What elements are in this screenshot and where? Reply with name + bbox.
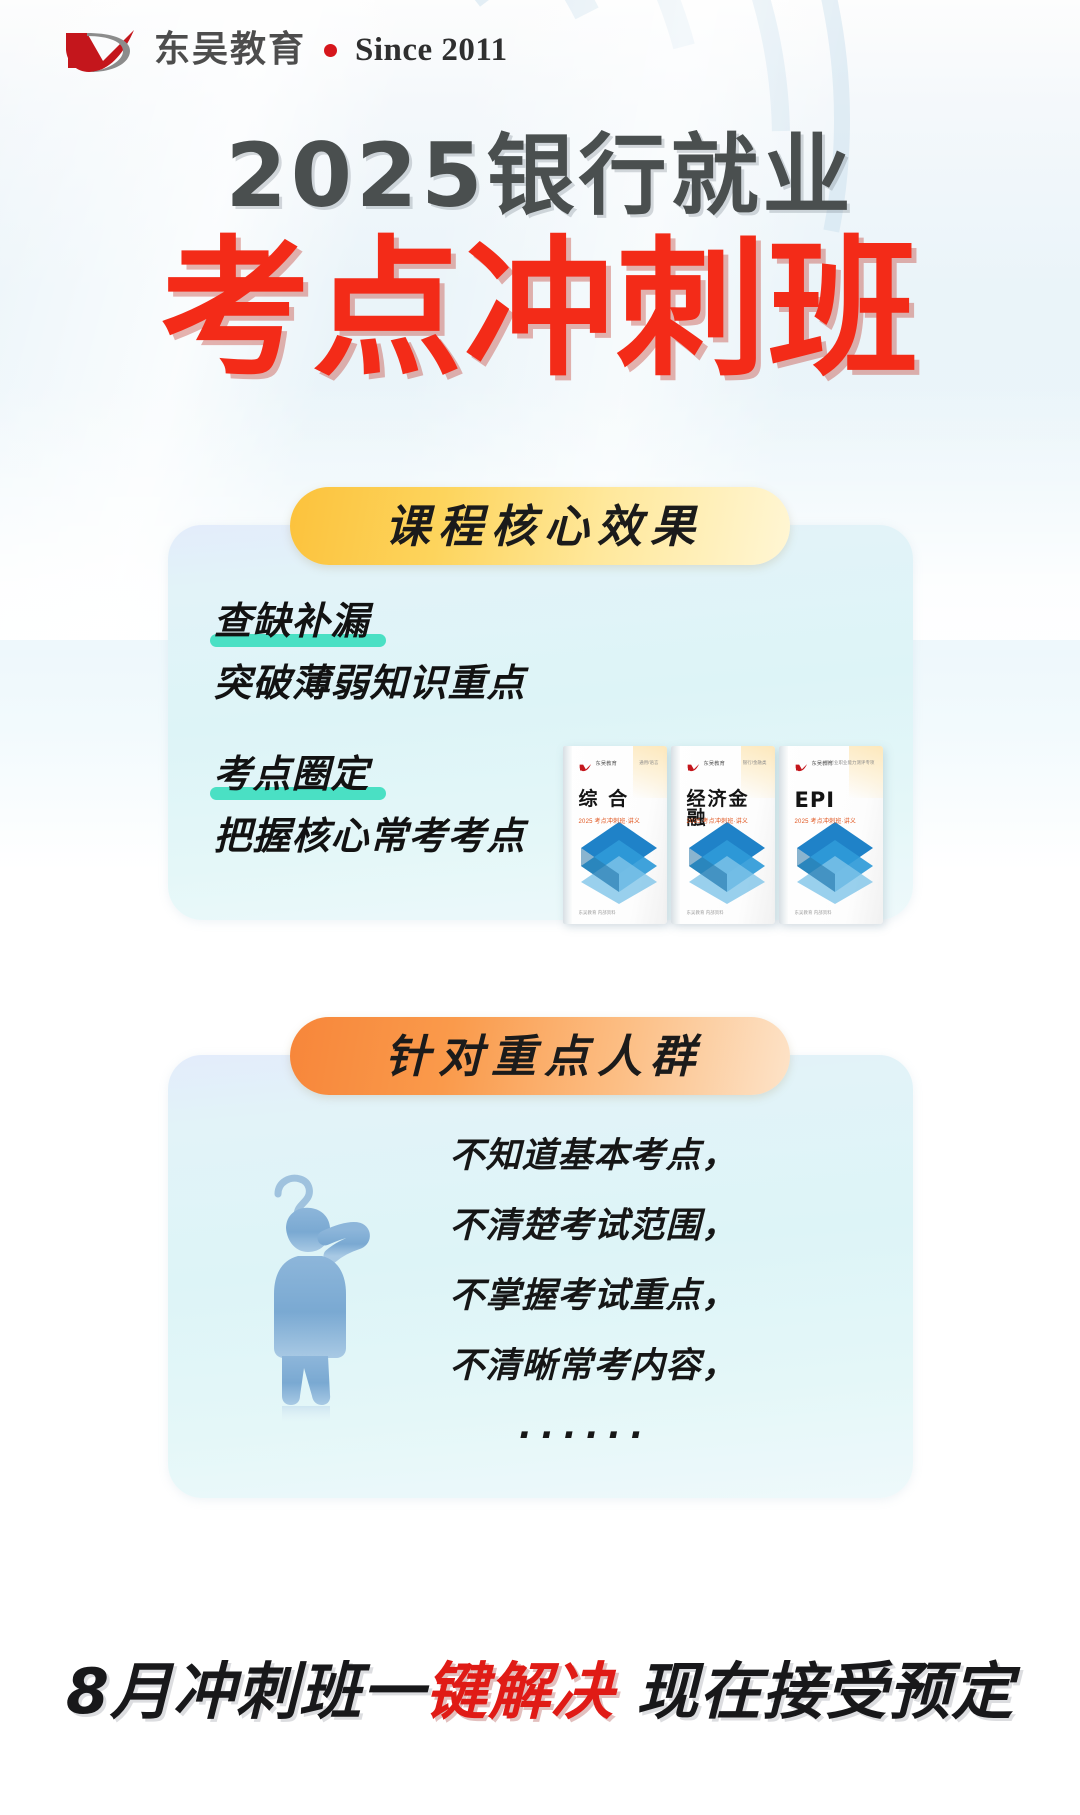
textbook-footer: 东吴教育 内部资料	[687, 910, 769, 916]
audience-pain-point-list: 不知道基本考点， 不清楚考试范围， 不掌握考试重点， 不清晰常考内容， ····…	[442, 1139, 865, 1454]
effect-group: 查缺补漏 突破薄弱知识重点	[214, 599, 913, 706]
banner-part-one: 8月冲刺班一	[66, 1655, 425, 1728]
textbook-subtitle: 2025 考点冲刺班·讲义	[687, 816, 769, 825]
textbook-stack: 东吴教育 通用/语言 综 合 2025 考点冲刺班·讲义 东吴教育 内部资料	[563, 724, 893, 924]
dongwu-checkmark-logo-icon	[62, 24, 140, 76]
brand-name: 东吴教育	[154, 32, 306, 68]
textbook-brand: 东吴教育	[704, 760, 726, 767]
red-dot-separator-icon	[324, 44, 337, 57]
textbook-footer: 东吴教育 内部资料	[579, 910, 661, 916]
audience-pain-point: 不清晰常考内容，	[450, 1349, 865, 1384]
blue-diamond-artwork-icon	[787, 816, 883, 904]
bottom-call-to-action-banner: 8月冲刺班一键解决现在接受预定	[0, 1661, 1080, 1723]
promo-poster: 东吴教育 Since 2011 2025银行就业 考点冲刺班 课程核心效果 查缺…	[0, 0, 1080, 1815]
textbook-cover: 东吴教育 银行业职业能力测评专项 EPI 2025 考点冲刺班·讲义 东吴教育 …	[779, 746, 883, 924]
audience-pain-point-ellipsis: ······	[450, 1419, 865, 1454]
effect-headline: 考点圈定	[214, 752, 370, 800]
textbook-subtitle: 2025 考点冲刺班·讲义	[579, 816, 661, 825]
banner-part-three: 现在接受预定	[636, 1655, 1014, 1728]
blue-diamond-artwork-icon	[571, 816, 667, 904]
dongwu-checkmark-logo-icon	[687, 759, 700, 768]
textbook-brand: 东吴教育	[596, 760, 618, 767]
textbook-tag: 银行/金融类	[743, 760, 767, 766]
textbook-footer: 东吴教育 内部资料	[795, 910, 877, 916]
textbook-tag: 银行业职业能力测评专项	[825, 760, 874, 766]
confused-person-question-icon	[212, 1172, 442, 1422]
dongwu-checkmark-logo-icon	[795, 759, 808, 768]
brand-logo-row: 东吴教育 Since 2011	[62, 24, 508, 76]
textbook-title: 综 合	[579, 790, 659, 809]
section-badge-label: 课程核心效果	[377, 504, 703, 549]
textbook-subtitle: 2025 考点冲刺班·讲义	[795, 816, 877, 825]
section-course-effects: 课程核心效果 查缺补漏 突破薄弱知识重点 考点圈定 把握核心常考考点	[0, 525, 1080, 920]
audience-pain-point: 不掌握考试重点，	[450, 1279, 865, 1314]
poster-headline: 2025银行就业 考点冲刺班	[0, 130, 1080, 387]
effect-subline: 突破薄弱知识重点	[214, 661, 913, 707]
section-badge-course-effects: 课程核心效果	[290, 487, 790, 565]
blue-diamond-artwork-icon	[679, 816, 775, 904]
section-badge-label: 针对重点人群	[377, 1034, 703, 1079]
audience-pain-point: 不知道基本考点，	[450, 1139, 865, 1174]
target-audience-card: 针对重点人群	[168, 1055, 913, 1498]
headline-subtitle: 2025银行就业	[0, 130, 1080, 222]
brand-since: Since 2011	[355, 34, 508, 67]
audience-body: 不知道基本考点， 不清楚考试范围， 不掌握考试重点， 不清晰常考内容， ····…	[168, 1139, 913, 1454]
section-badge-target-audience: 针对重点人群	[290, 1017, 790, 1095]
textbook-cover: 东吴教育 银行/金融类 经济金融 2025 考点冲刺班·讲义 东吴教育 内部资料	[671, 746, 775, 924]
banner-part-two-highlight: 键解决	[425, 1655, 614, 1728]
course-effects-card: 课程核心效果 查缺补漏 突破薄弱知识重点 考点圈定 把握核心常考考点	[168, 525, 913, 920]
textbook-cover: 东吴教育 通用/语言 综 合 2025 考点冲刺班·讲义 东吴教育 内部资料	[563, 746, 667, 924]
dongwu-checkmark-logo-icon	[579, 759, 592, 768]
textbook-title: EPI	[795, 790, 875, 811]
effect-headline: 查缺补漏	[214, 599, 370, 647]
audience-pain-point: 不清楚考试范围，	[450, 1209, 865, 1244]
headline-title: 考点冲刺班	[0, 234, 1080, 387]
section-target-audience: 针对重点人群	[0, 1055, 1080, 1498]
textbook-tag: 通用/语言	[639, 760, 658, 766]
